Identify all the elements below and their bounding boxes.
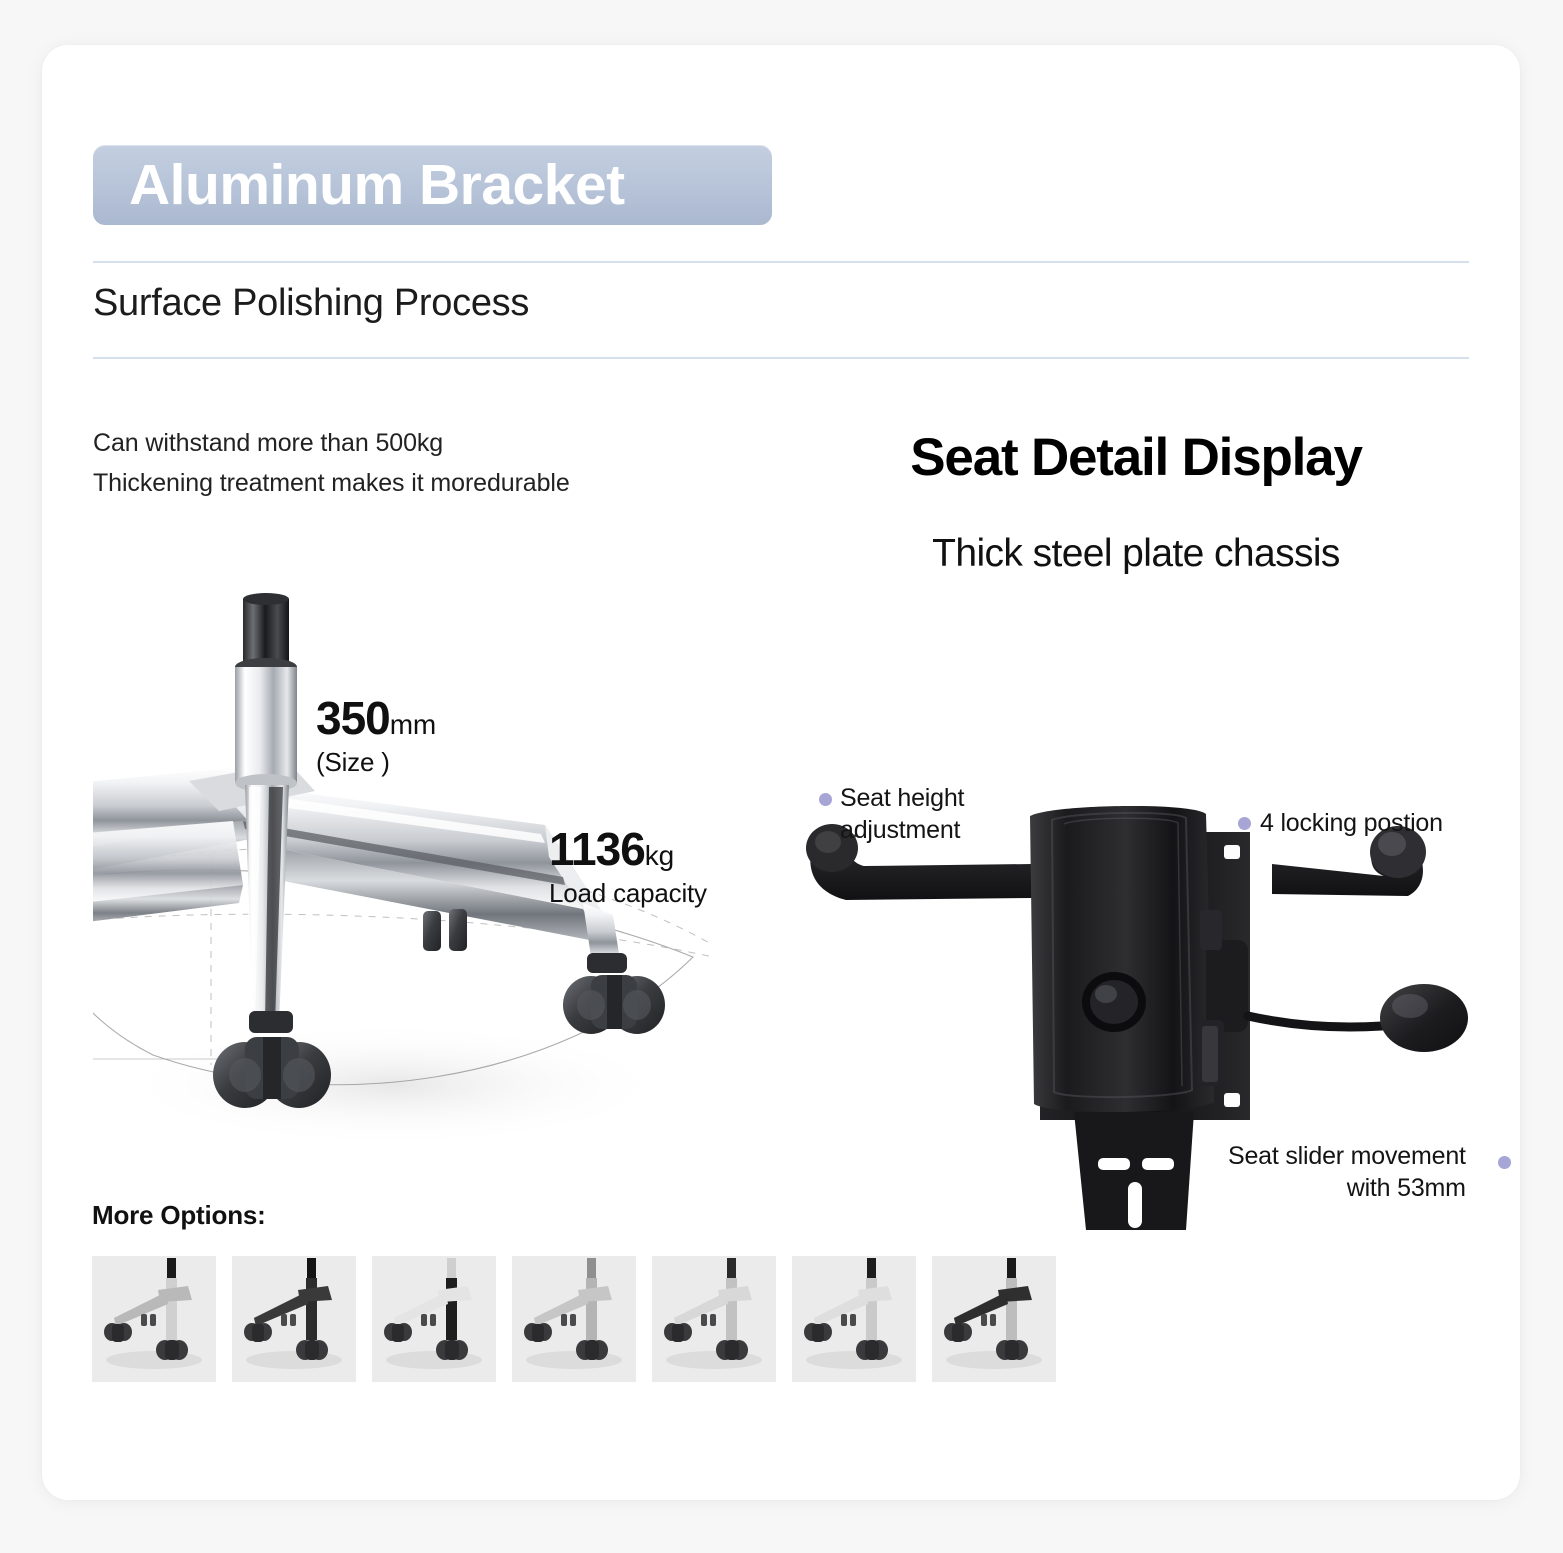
- chair-base-black-nylon-icon: [232, 1256, 356, 1382]
- thumbnail-option-4[interactable]: [512, 1256, 636, 1382]
- metric-size-unit: mm: [390, 709, 436, 740]
- chair-base-light-chrome-icon: [652, 1256, 776, 1382]
- chair-base-brushed-silver-icon: [512, 1256, 636, 1382]
- thumbnail-option-5[interactable]: [652, 1256, 776, 1382]
- more-options-thumbnail-strip[interactable]: [92, 1256, 1056, 1382]
- product-detail-page: Aluminum Bracket Surface Polishing Proce…: [0, 0, 1563, 1553]
- thumbnail-option-2[interactable]: [232, 1256, 356, 1382]
- right-panel-subtitle: Thick steel plate chassis: [802, 532, 1470, 576]
- annotation-seat-height: Seat height adjustment: [840, 782, 964, 846]
- divider-bottom: [93, 357, 1469, 359]
- chair-base-polished-aluminum-icon: [92, 1256, 216, 1382]
- metric-load-capacity: 1136kg Load capacity: [549, 822, 707, 909]
- chair-base-dark-gunmetal-icon: [932, 1256, 1056, 1382]
- thumbnail-option-7[interactable]: [932, 1256, 1056, 1382]
- feature-description: Can withstand more than 500kg Thickening…: [93, 423, 570, 503]
- chair-base-white-slim-icon: [372, 1256, 496, 1382]
- bullet-dot-icon-slider: [1498, 1156, 1511, 1169]
- thumbnail-option-1[interactable]: [92, 1256, 216, 1382]
- annotation-seat-slider-line-2: with 53mm: [1228, 1172, 1466, 1204]
- section-title-text: Aluminum Bracket: [129, 152, 625, 218]
- annotation-locking-position: 4 locking postion: [1260, 807, 1443, 839]
- metric-load-value: 1136: [549, 823, 645, 875]
- annotation-seat-height-line-2: adjustment: [840, 814, 964, 846]
- bullet-dot-icon-seat-height: [819, 793, 832, 806]
- metric-size-label: (Size ): [316, 747, 436, 778]
- metric-size-value: 350: [316, 692, 390, 744]
- more-options-label: More Options:: [92, 1200, 266, 1231]
- annotation-seat-slider-line-1: Seat slider movement: [1228, 1140, 1466, 1172]
- thumbnail-option-3[interactable]: [372, 1256, 496, 1382]
- bullet-dot-icon-locking: [1238, 817, 1251, 830]
- section-subheading: Surface Polishing Process: [93, 282, 529, 325]
- divider-top: [93, 261, 1469, 263]
- chair-base-matte-white-icon: [792, 1256, 916, 1382]
- annotation-seat-height-line-1: Seat height: [840, 782, 964, 814]
- metric-size: 350mm (Size ): [316, 691, 436, 778]
- section-title-badge: Aluminum Bracket: [93, 145, 772, 225]
- feature-description-line-1: Can withstand more than 500kg: [93, 423, 570, 463]
- feature-description-line-2: Thickening treatment makes it moredurabl…: [93, 463, 570, 503]
- annotation-seat-slider: Seat slider movement with 53mm: [1228, 1140, 1466, 1204]
- metric-load-label: Load capacity: [549, 878, 707, 909]
- right-panel-title: Seat Detail Display: [802, 427, 1470, 488]
- metric-load-unit: kg: [645, 840, 674, 871]
- thumbnail-option-6[interactable]: [792, 1256, 916, 1382]
